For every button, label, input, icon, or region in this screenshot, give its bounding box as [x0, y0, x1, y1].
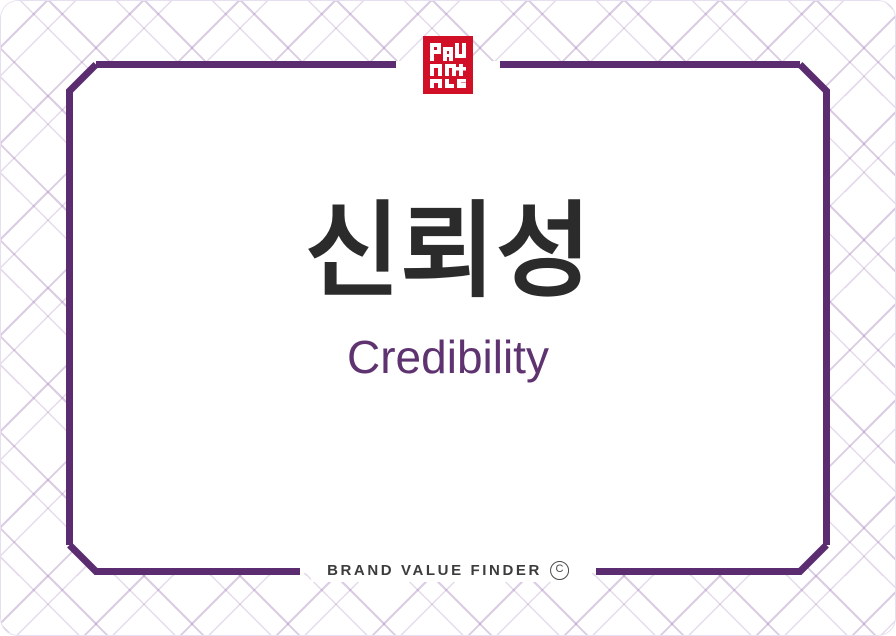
brand-value-card: 신뢰성 Credibility BRAND VALUE FINDER C	[0, 0, 896, 636]
copyright-icon: C	[550, 561, 569, 580]
card-content: 신뢰성 Credibility	[0, 196, 896, 386]
term-korean: 신뢰성	[0, 196, 896, 308]
footer-label: BRAND VALUE FINDER	[327, 562, 542, 579]
term-english: Credibility	[0, 330, 896, 385]
card-footer: BRAND VALUE FINDER C	[311, 559, 585, 582]
paulnpark-logo-icon	[423, 36, 473, 94]
